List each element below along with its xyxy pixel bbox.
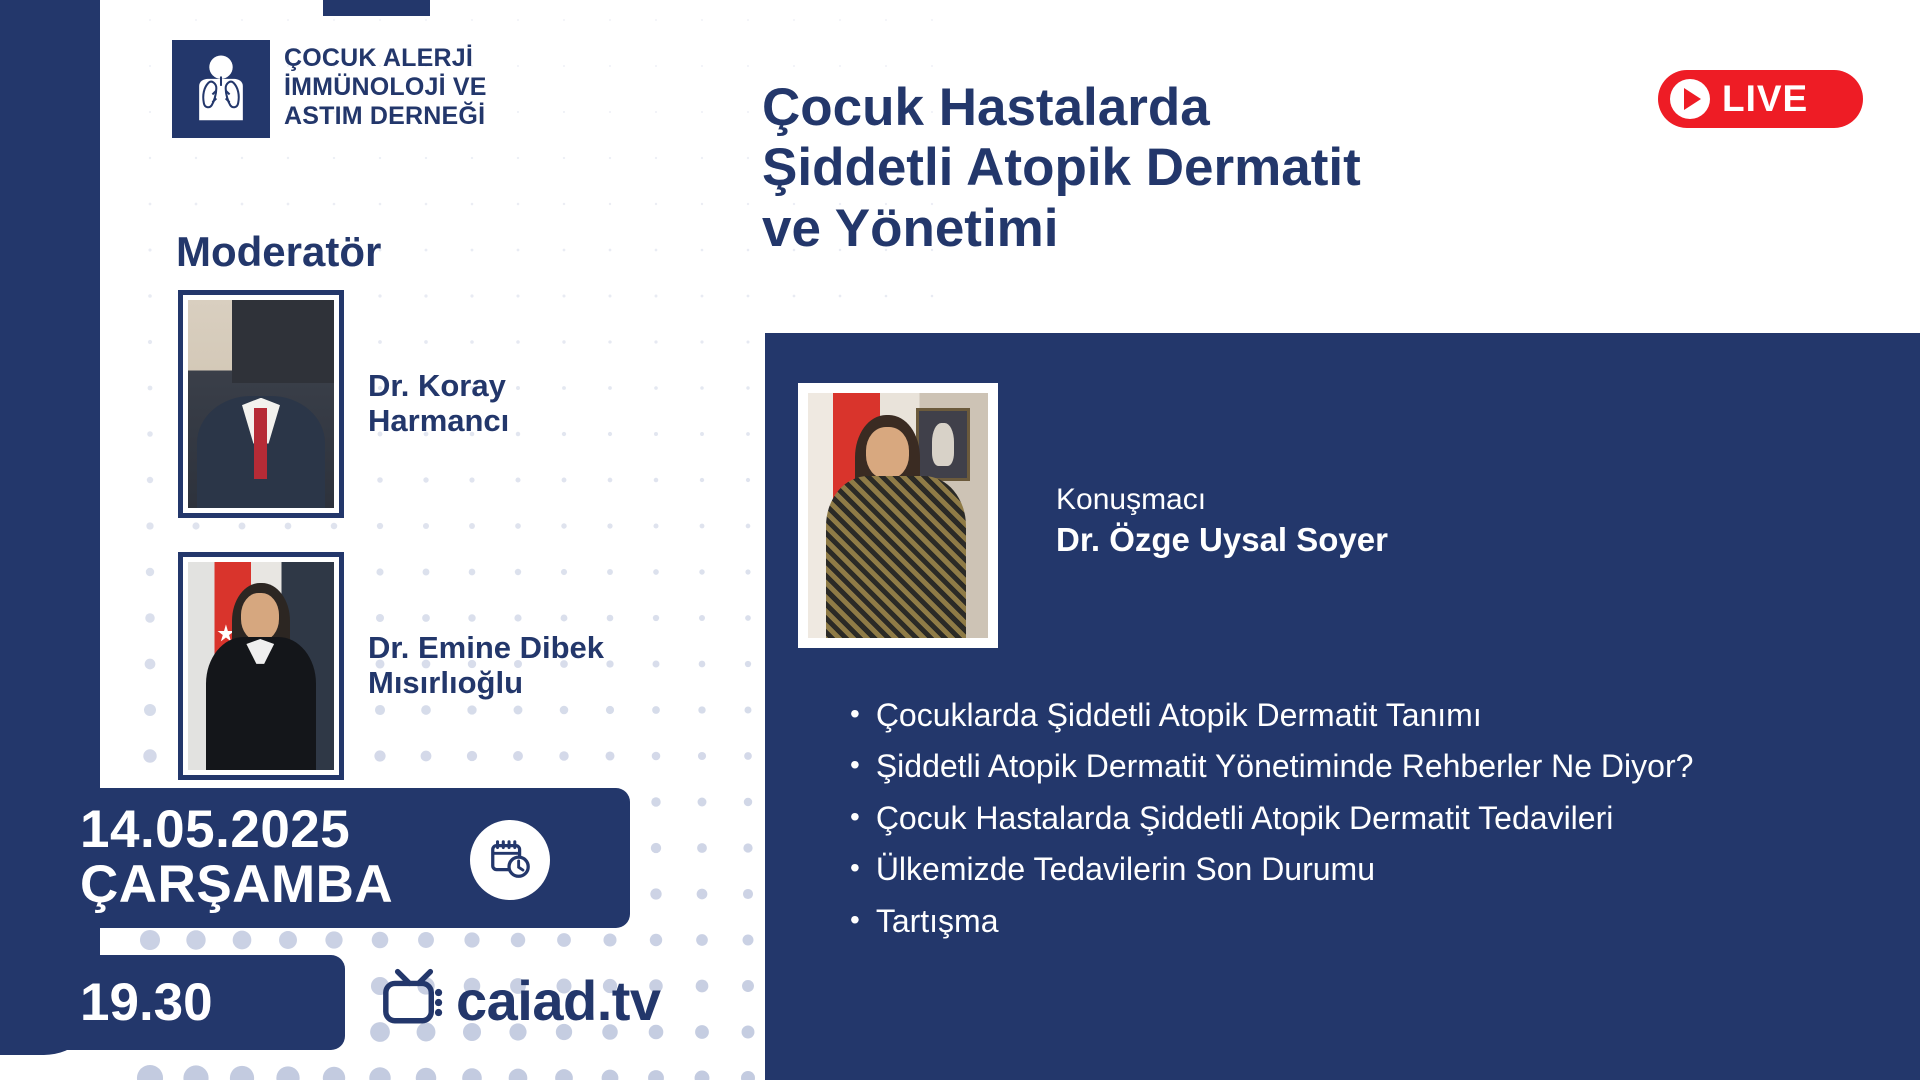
topic-text: Ülkemizde Tedavilerin Son Durumu	[876, 847, 1375, 892]
speaker-role: Konuşmacı	[1056, 480, 1388, 519]
topic-item: • Şiddetli Atopik Dermatit Yönetiminde R…	[850, 744, 1890, 789]
moderator-name-2: Dr. Emine Dibek Mısırlıoğlu	[368, 631, 604, 700]
top-accent-tab	[323, 0, 430, 16]
moderator-photo-2	[178, 552, 344, 780]
event-time-text: 19.30	[0, 972, 213, 1033]
topic-item: • Tartışma	[850, 899, 1890, 944]
moderator-name-2-line2: Mısırlıoğlu	[368, 666, 604, 701]
site-link[interactable]: caiad.tv	[382, 968, 661, 1033]
bullet-icon: •	[850, 899, 860, 941]
page-title: Çocuk Hastalarda Şiddetli Atopik Dermati…	[762, 78, 1361, 259]
title-line-3: ve Yönetimi	[762, 199, 1361, 259]
moderator-name-1: Dr. Koray Harmancı	[368, 369, 509, 438]
association-logo-text: ÇOCUK ALERJİ İMMÜNOLOJİ VE ASTIM DERNEĞİ	[284, 40, 487, 131]
tv-icon	[382, 968, 446, 1033]
topic-text: Şiddetli Atopik Dermatit Yönetiminde Reh…	[876, 744, 1694, 789]
topic-text: Çocuklarda Şiddetli Atopik Dermatit Tanı…	[876, 693, 1482, 738]
moderator-name-2-line1: Dr. Emine Dibek	[368, 631, 604, 666]
title-line-2: Şiddetli Atopik Dermatit	[762, 138, 1361, 198]
moderator-name-1-line1: Dr. Koray	[368, 369, 509, 404]
event-date-line1: 14.05.2025	[80, 803, 393, 858]
association-logo: ÇOCUK ALERJİ İMMÜNOLOJİ VE ASTIM DERNEĞİ	[172, 40, 487, 138]
topic-item: • Ülkemizde Tedavilerin Son Durumu	[850, 847, 1890, 892]
topic-text: Çocuk Hastalarda Şiddetli Atopik Dermati…	[876, 796, 1614, 841]
topic-text: Tartışma	[876, 899, 999, 944]
speaker-name: Dr. Özge Uysal Soyer	[1056, 519, 1388, 562]
event-time-pill: 19.30	[0, 955, 345, 1050]
live-label: LIVE	[1722, 78, 1808, 120]
moderator-card-1: Dr. Koray Harmancı	[178, 290, 509, 518]
logo-line-3: ASTIM DERNEĞİ	[284, 102, 487, 131]
title-line-1: Çocuk Hastalarda	[762, 78, 1361, 138]
speaker-photo	[798, 383, 998, 648]
speaker-card: Konuşmacı Dr. Özge Uysal Soyer	[798, 383, 1388, 648]
calendar-clock-icon	[470, 820, 550, 900]
moderator-card-2: Dr. Emine Dibek Mısırlıoğlu	[178, 552, 604, 780]
moderator-photo-1	[178, 290, 344, 518]
speaker-panel: Konuşmacı Dr. Özge Uysal Soyer • Çocukla…	[765, 333, 1920, 1080]
topic-item: • Çocuk Hastalarda Şiddetli Atopik Derma…	[850, 796, 1890, 841]
topic-list: • Çocuklarda Şiddetli Atopik Dermatit Ta…	[850, 693, 1890, 950]
moderator-heading: Moderatör	[176, 228, 381, 276]
topic-item: • Çocuklarda Şiddetli Atopik Dermatit Ta…	[850, 693, 1890, 738]
bullet-icon: •	[850, 847, 860, 889]
event-date-line2: ÇARŞAMBA	[80, 858, 393, 913]
logo-line-2: İMMÜNOLOJİ VE	[284, 73, 487, 102]
bullet-icon: •	[850, 693, 860, 735]
site-label: caiad.tv	[456, 968, 661, 1033]
event-date-text: 14.05.2025 ÇARŞAMBA	[0, 803, 393, 912]
bullet-icon: •	[850, 796, 860, 838]
play-icon	[1670, 79, 1710, 119]
live-badge[interactable]: LIVE	[1658, 70, 1863, 128]
bullet-icon: •	[850, 744, 860, 786]
lungs-person-icon	[172, 40, 270, 138]
logo-line-1: ÇOCUK ALERJİ	[284, 44, 487, 73]
moderator-name-1-line2: Harmancı	[368, 404, 509, 439]
